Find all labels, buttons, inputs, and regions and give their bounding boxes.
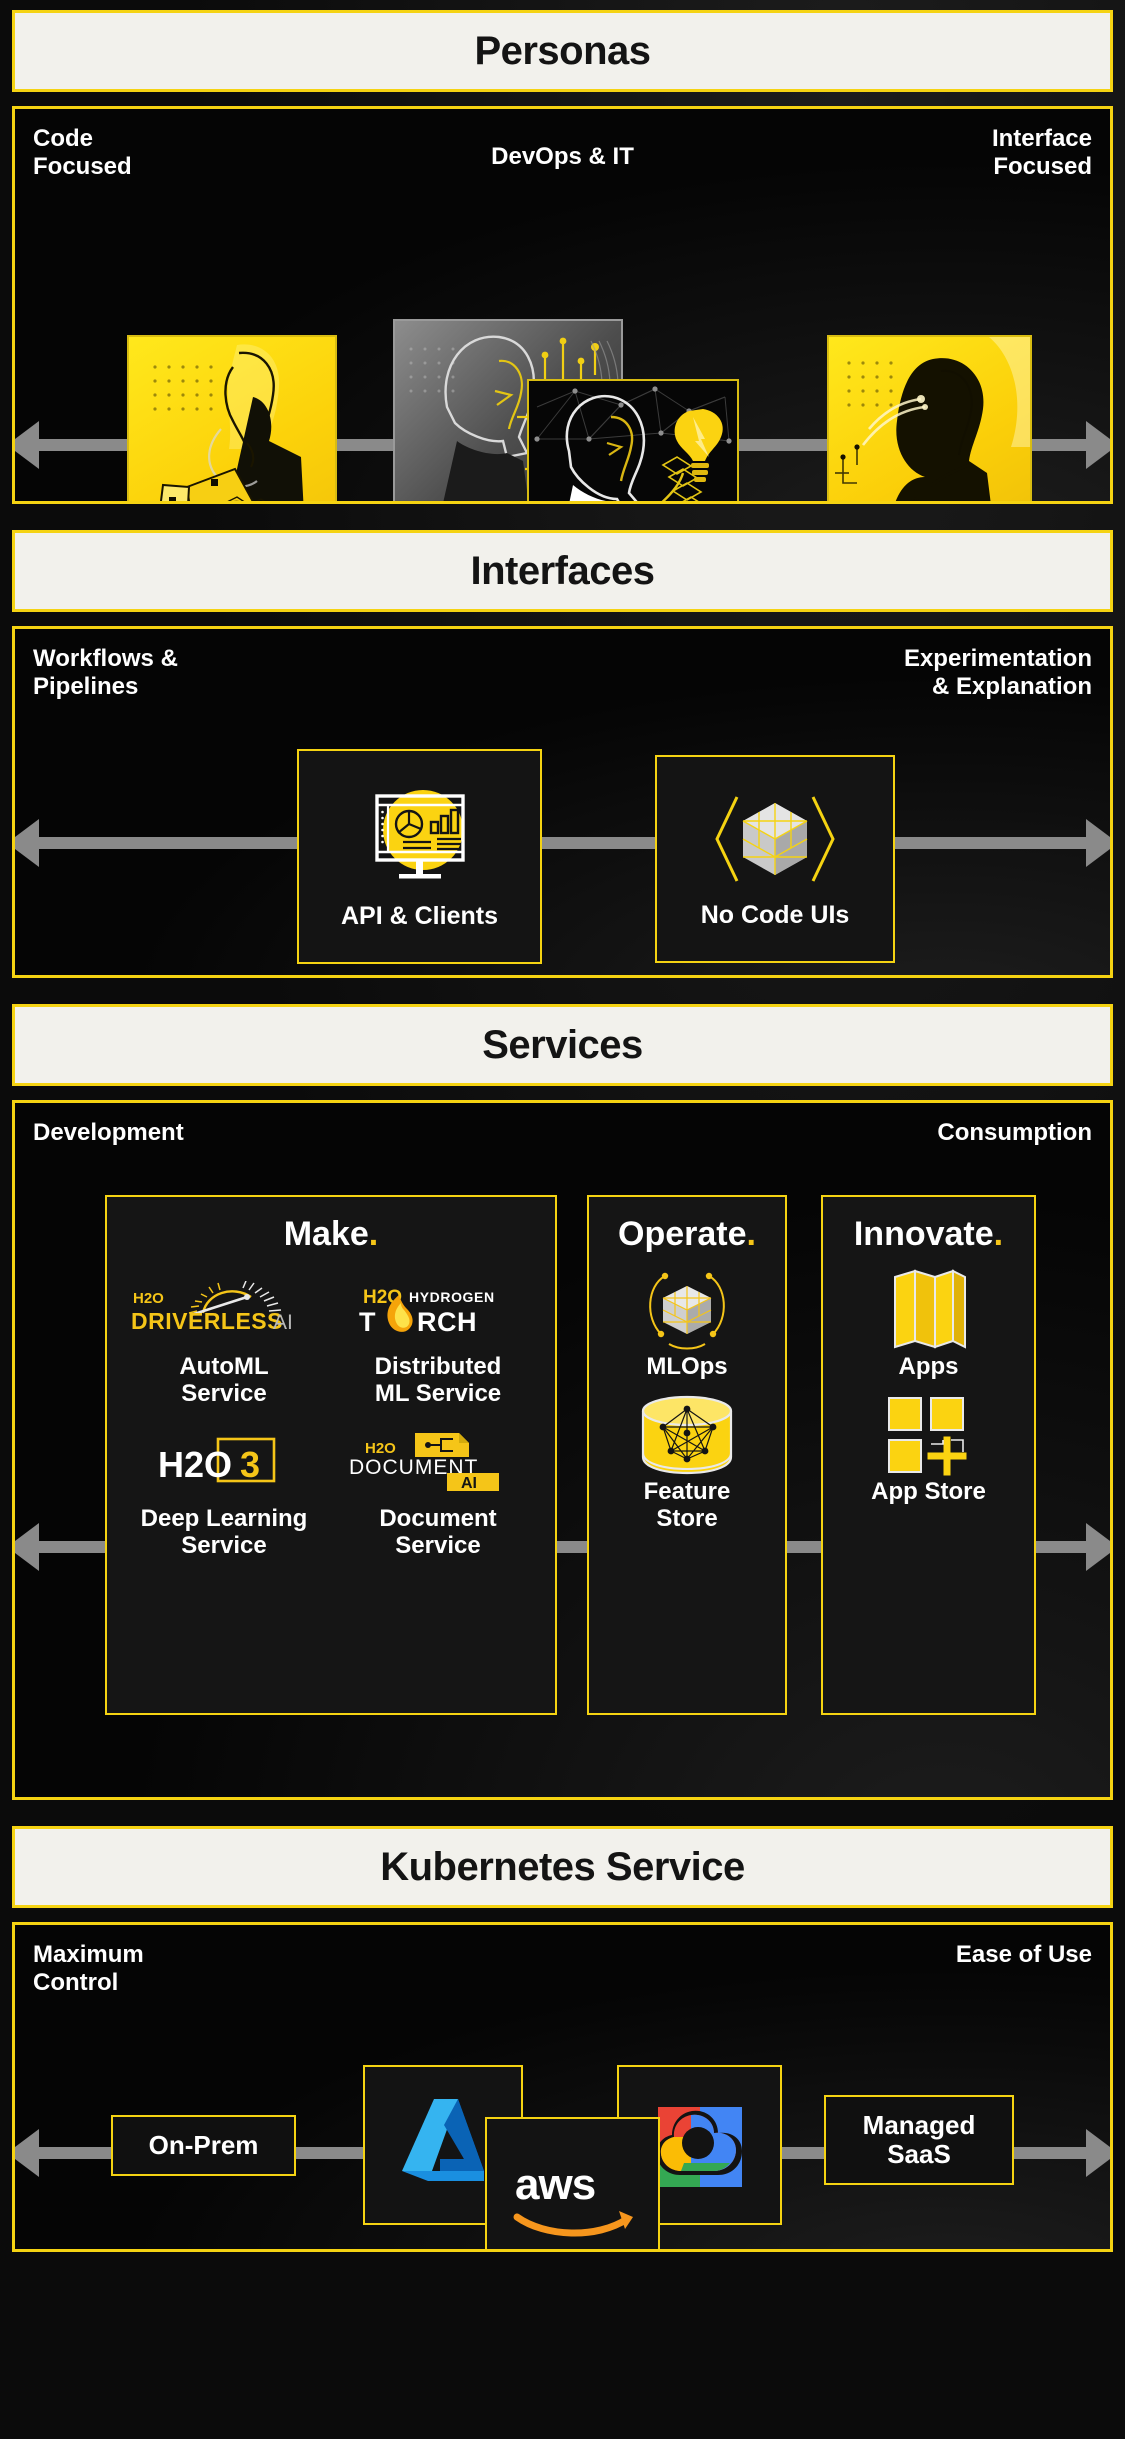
services-column-operate[interactable]: Operate. (587, 1195, 787, 1715)
band-title-kubernetes: Kubernetes Service (12, 1826, 1113, 1908)
service-item-app-store[interactable]: App Store (833, 1389, 1024, 1514)
interface-card-no-code-uis[interactable]: No Code UIs (655, 755, 895, 963)
interfaces-panel: Workflows & Pipelines Experimentation & … (12, 626, 1113, 978)
svg-text:RCH: RCH (417, 1307, 477, 1337)
app-developer-illustration (527, 379, 739, 504)
interfaces-axis-left: Workflows & Pipelines (33, 645, 178, 702)
cube-brackets-icon (711, 789, 839, 889)
service-item-feature-store[interactable]: Feature Store (599, 1389, 775, 1541)
kubernetes-axis-left: Maximum Control (33, 1941, 144, 1998)
service-item-distributed-ml[interactable]: H2O HYDROGEN T RCH Distributed ML Servic… (331, 1264, 545, 1416)
personas-axis-left: Code Focused (33, 125, 132, 182)
service-item-caption: Deep Learning Service (141, 1506, 308, 1560)
personas-axis-right: Interface Focused (992, 125, 1092, 182)
services-axis-left: Development (33, 1119, 184, 1147)
persona-app-developer[interactable]: App Developer (527, 379, 739, 504)
services-column-innovate[interactable]: Innovate. Apps (821, 1195, 1036, 1715)
services-panel: Development Consumption Make. H2O (12, 1100, 1113, 1800)
personas-title: Personas (474, 29, 650, 74)
svg-text:aws: aws (515, 2160, 595, 2209)
h2o-hydrogen-torch-logo: H2O HYDROGEN T RCH (343, 1278, 533, 1342)
svg-text:AI: AI (461, 1475, 477, 1492)
service-item-caption: Apps (899, 1354, 959, 1381)
google-cloud-logo (644, 2093, 756, 2197)
kubernetes-panel: Maximum Control Ease of Use On-Prem aws (12, 1922, 1113, 2252)
app-store-grid-icon (879, 1403, 979, 1467)
service-item-deep-learning[interactable]: H2O 3 Deep Learning Service (117, 1416, 331, 1568)
personas-row: Data Scientist (15, 307, 1110, 504)
cloud-tile-aws[interactable]: aws (485, 2117, 660, 2252)
svg-text:H2O: H2O (365, 1440, 396, 1457)
service-item-mlops[interactable]: MLOps (599, 1264, 775, 1389)
services-column-heading: Make. (117, 1215, 545, 1254)
apps-books-icon (881, 1278, 977, 1342)
persona-data-scientist[interactable]: Data Scientist (127, 335, 337, 504)
services-column-heading: Innovate. (833, 1215, 1024, 1254)
interfaces-title: Interfaces (471, 549, 655, 594)
h2o-document-ai-logo: H2O DOCUMENT AI (343, 1430, 533, 1494)
service-item-document[interactable]: H2O DOCUMENT AI Document Service (331, 1416, 545, 1568)
interfaces-spectrum-arrow (37, 837, 1088, 849)
kubernetes-title: Kubernetes Service (380, 1845, 745, 1890)
kubernetes-axis-right: Ease of Use (956, 1941, 1092, 1969)
svg-text:AI: AI (273, 1311, 293, 1334)
services-axis-right: Consumption (937, 1119, 1092, 1147)
h2o-3-logo: H2O 3 (144, 1430, 304, 1494)
mlops-cube-orbit-icon (635, 1278, 739, 1342)
azure-logo (388, 2093, 498, 2197)
personas-panel: Code Focused DevOps & IT Interface Focus… (12, 106, 1113, 504)
kubernetes-on-prem-pill[interactable]: On-Prem (111, 2115, 296, 2176)
feature-store-db-icon (633, 1403, 741, 1467)
monitor-dashboard-icon (361, 782, 479, 890)
band-title-services: Services (12, 1004, 1113, 1086)
persona-business-user[interactable]: Business User (827, 335, 1032, 504)
personas-axis-center: DevOps & IT (491, 143, 634, 171)
aws-logo: aws (503, 2149, 643, 2245)
svg-text:T: T (359, 1307, 376, 1337)
interface-label: API & Clients (341, 902, 498, 931)
interface-label: No Code UIs (701, 901, 850, 930)
interfaces-axis-right: Experimentation & Explanation (904, 645, 1092, 702)
band-title-personas: Personas (12, 10, 1113, 92)
service-item-caption: Document Service (379, 1506, 496, 1560)
svg-text:HYDROGEN: HYDROGEN (409, 1289, 495, 1305)
service-item-caption: AutoML Service (179, 1354, 268, 1408)
services-column-heading: Operate. (599, 1215, 775, 1254)
svg-text:H2O: H2O (133, 1290, 164, 1307)
data-scientist-illustration (127, 335, 337, 504)
h2o-driverless-ai-logo: H2O (129, 1278, 319, 1342)
services-column-make[interactable]: Make. H2O (105, 1195, 557, 1715)
service-item-apps[interactable]: Apps (833, 1264, 1024, 1389)
service-item-automl[interactable]: H2O (117, 1264, 331, 1416)
svg-text:DRIVERLESS: DRIVERLESS (131, 1308, 283, 1334)
kubernetes-managed-saas-pill[interactable]: Managed SaaS (824, 2095, 1014, 2185)
service-item-caption: Distributed ML Service (375, 1354, 502, 1408)
business-user-illustration (827, 335, 1032, 504)
service-item-caption: Feature Store (644, 1479, 731, 1533)
service-item-caption: App Store (871, 1479, 986, 1506)
svg-text:H2O: H2O (158, 1444, 232, 1485)
service-item-caption: MLOps (646, 1354, 727, 1381)
band-title-interfaces: Interfaces (12, 530, 1113, 612)
services-title: Services (482, 1023, 643, 1068)
svg-text:3: 3 (240, 1444, 260, 1485)
interface-card-api-clients[interactable]: API & Clients (297, 749, 542, 964)
